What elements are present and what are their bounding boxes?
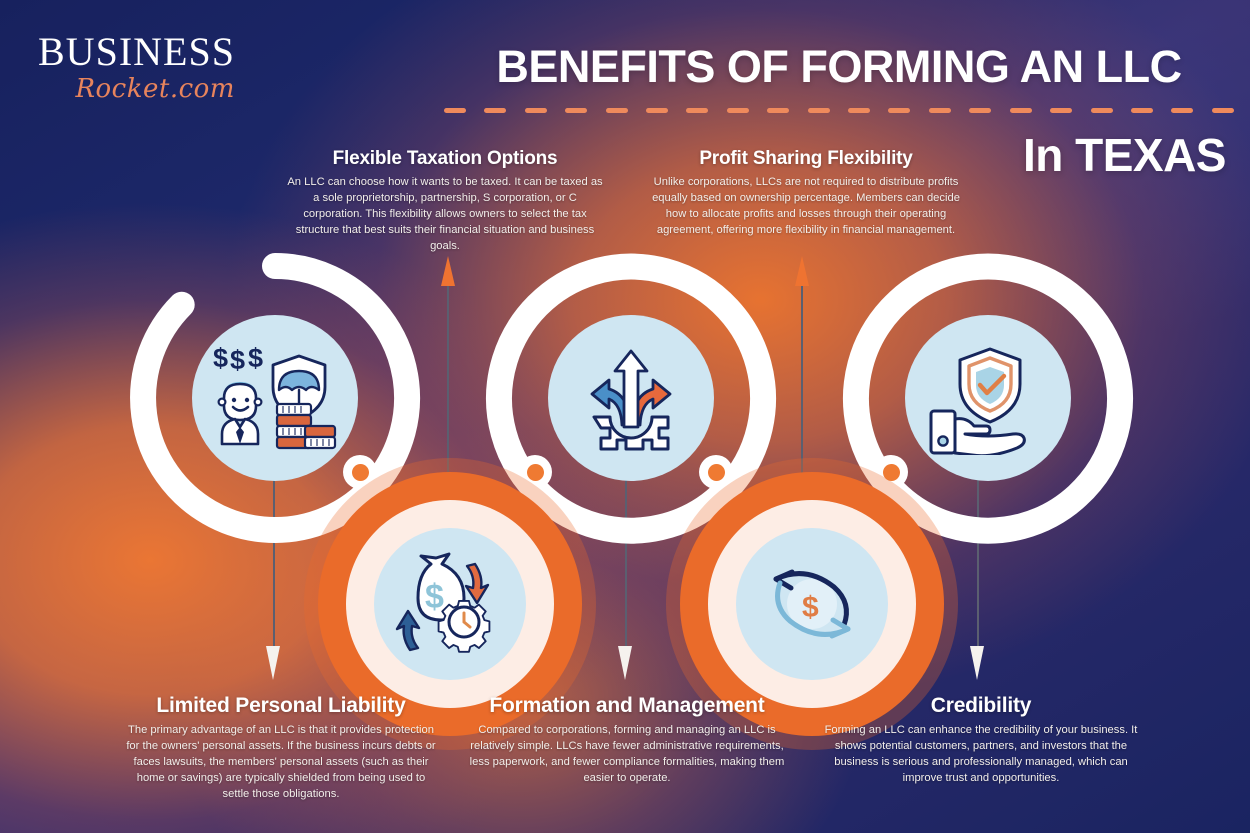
connector-line-2 [447,280,449,480]
benefit-title: Formation and Management [464,694,790,718]
svg-text:$: $ [213,343,228,373]
svg-text:$: $ [230,345,245,375]
person-money-shield-umbrella-icon: $$$ [211,342,339,454]
arrow-up-2 [795,256,809,286]
ring-terminal-dot-1 [343,455,377,489]
arrow-down-3 [970,646,984,680]
brand-logo: BUSINESS Rocket.com [38,32,235,104]
ring-terminal-dot-2 [518,455,552,489]
benefit-title: Credibility [822,694,1140,718]
benefit-formation-and-management: Formation and Management Compared to cor… [464,694,790,787]
svg-text:$: $ [248,343,263,373]
icon-disc-credibility [905,315,1071,481]
benefit-credibility: Credibility Forming an LLC can enhance t… [822,694,1140,787]
benefit-body: Forming an LLC can enhance the credibili… [822,723,1140,787]
dollar-cycle-arrows-icon: $ [756,555,868,653]
benefit-body: The primary advantage of an LLC is that … [124,723,438,803]
ring-terminal-dot-3 [699,455,733,489]
page-subtitle: In TEXAS [1023,128,1226,182]
brand-suffix: Rocket.com [38,74,235,104]
page-title: BENEFITS OF FORMING AN LLC [444,44,1234,89]
svg-text:$: $ [425,578,444,616]
benefit-title: Profit Sharing Flexibility [648,148,964,170]
benefit-limited-personal-liability: Limited Personal Liability The primary a… [124,694,438,803]
icon-disc-flexible-taxation: $$$ [192,315,358,481]
svg-text:$: $ [802,591,819,624]
benefit-body: An LLC can choose how it wants to be tax… [284,175,606,255]
ring-terminal-dot-4 [874,455,908,489]
money-bag-clock-gear-icon: $ [392,550,508,658]
benefit-flexible-taxation-options: Flexible Taxation Options An LLC can cho… [284,148,606,255]
benefit-title: Flexible Taxation Options [284,148,606,170]
benefit-profit-sharing-flexibility: Profit Sharing Flexibility Unlike corpor… [648,148,964,239]
arrow-down-2 [618,646,632,680]
icon-disc-profit-sharing [548,315,714,481]
benefit-body: Unlike corporations, LLCs are not requir… [648,175,964,239]
arrow-down-1 [266,646,280,680]
hand-shield-check-icon [926,341,1050,455]
icon-disc-limited-liability: $ [374,528,526,680]
benefit-body: Compared to corporations, forming and ma… [464,723,790,787]
icon-disc-formation-management: $ [736,528,888,680]
benefit-title: Limited Personal Liability [124,694,438,718]
brand-name: BUSINESS [38,32,235,72]
connector-line-4 [801,280,803,480]
infographic-canvas: BUSINESS Rocket.com BENEFITS OF FORMING … [0,0,1250,833]
arrow-up-1 [441,256,455,286]
dashed-divider [444,108,1234,114]
gear-diverging-arrows-icon [572,339,690,457]
